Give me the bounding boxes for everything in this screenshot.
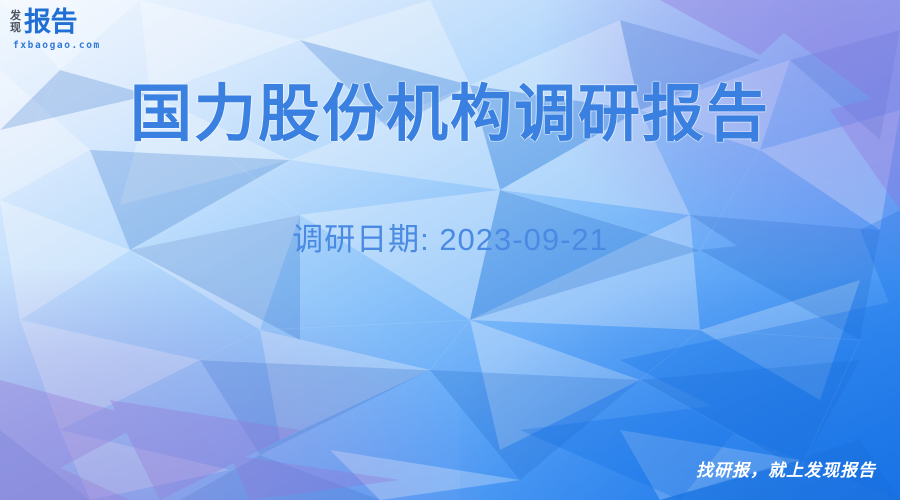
brand-slogan: 找研报，就上发现报告 [696, 461, 876, 481]
brand-logo[interactable]: 发 现 报告 fxbaogao.com [10, 9, 77, 36]
logo-domain-text: fxbaogao.com [13, 40, 101, 51]
title-block: 国力股份机构调研报告 调研日期: 2023-09-21 [0, 78, 900, 259]
logo-char-bottom: 现 [10, 22, 21, 34]
page-title: 国力股份机构调研报告 [0, 78, 900, 152]
report-cover: 发 现 报告 fxbaogao.com 国力股份机构调研报告 调研日期: 202… [0, 0, 900, 500]
survey-date-subtitle: 调研日期: 2023-09-21 [0, 152, 900, 259]
logo-stacked-characters: 发 现 [10, 9, 21, 34]
logo-char-top: 发 [10, 10, 21, 22]
logo-wordmark: 报告 [24, 9, 77, 36]
